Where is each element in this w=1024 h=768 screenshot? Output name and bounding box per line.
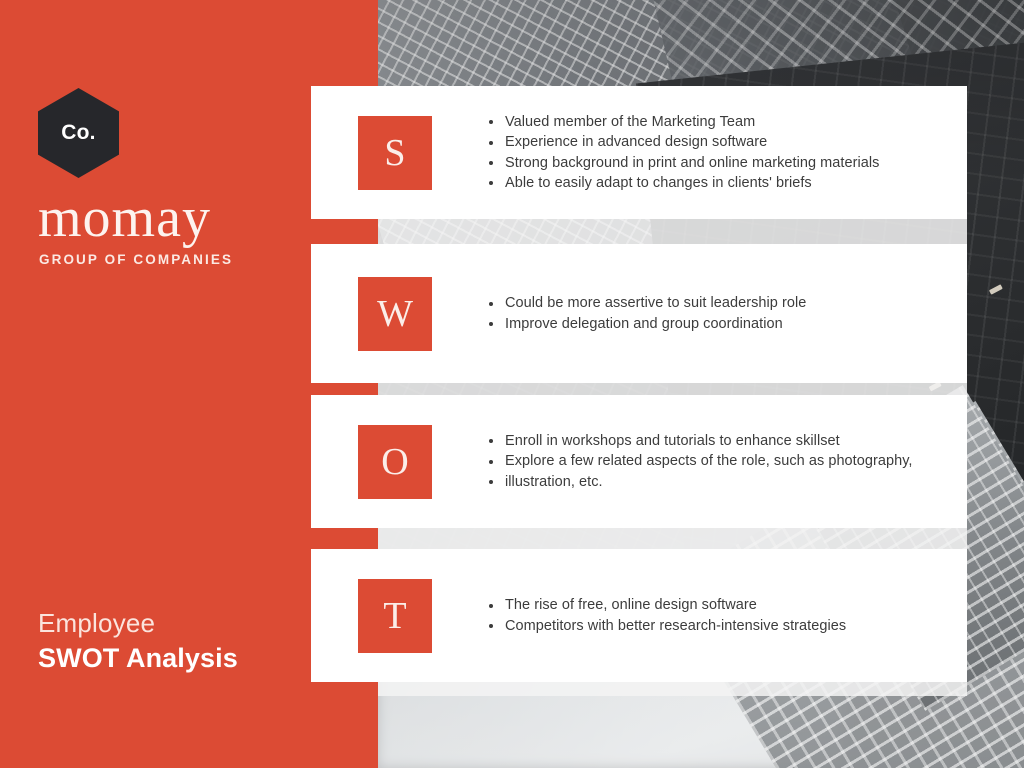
list-item: Experience in advanced design software (486, 132, 967, 152)
list-item: illustration, etc. (486, 472, 967, 492)
swot-letter-s: S (384, 134, 405, 172)
page-title: Employee SWOT Analysis (38, 606, 358, 676)
swot-bullets-strengths: Valued member of the Marketing Team Expe… (486, 112, 967, 194)
swot-card-weaknesses: W Could be more assertive to suit leader… (311, 244, 967, 383)
page-title-main: SWOT Analysis (38, 640, 358, 676)
red-accent-tab-3 (311, 528, 378, 549)
swot-letter-t: T (383, 597, 406, 635)
swot-letter-badge-w: W (358, 277, 432, 351)
hexagon-logo-icon: Co. (38, 88, 119, 178)
swot-letter-badge-s: S (358, 116, 432, 190)
card-gap-band-2 (378, 383, 967, 395)
swot-bullets-threats: The rise of free, online design software… (486, 595, 967, 636)
logo-hex-label: Co. (61, 121, 95, 145)
card-gap-band-3 (378, 528, 967, 549)
swot-letter-badge-t: T (358, 579, 432, 653)
list-item: Valued member of the Marketing Team (486, 112, 967, 132)
list-item: Explore a few related aspects of the rol… (486, 451, 967, 471)
list-item: Competitors with better research-intensi… (486, 616, 967, 636)
brand-tagline: GROUP OF COMPANIES (39, 252, 233, 267)
card-gap-band-1 (378, 219, 967, 244)
red-accent-tab-1 (311, 219, 378, 244)
red-accent-tab-4 (311, 682, 378, 696)
list-item: Able to easily adapt to changes in clien… (486, 173, 967, 193)
slide-canvas: Co. momay GROUP OF COMPANIES Employee SW… (0, 0, 1024, 768)
red-accent-tab-2 (311, 383, 378, 395)
swot-letter-o: O (381, 443, 408, 481)
list-item: Could be more assertive to suit leadersh… (486, 293, 967, 313)
list-item: Enroll in workshops and tutorials to enh… (486, 431, 967, 451)
brand-name: momay (38, 188, 211, 248)
card-gap-band-4 (378, 682, 967, 696)
page-title-eyebrow: Employee (38, 606, 358, 640)
swot-card-threats: T The rise of free, online design softwa… (311, 549, 967, 682)
swot-letter-w: W (377, 295, 413, 333)
swot-letter-badge-o: O (358, 425, 432, 499)
list-item: The rise of free, online design software (486, 595, 967, 615)
swot-bullets-opportunities: Enroll in workshops and tutorials to enh… (486, 431, 967, 492)
list-item: Strong background in print and online ma… (486, 153, 967, 173)
swot-card-strengths: S Valued member of the Marketing Team Ex… (311, 86, 967, 219)
list-item: Improve delegation and group coordinatio… (486, 314, 967, 334)
swot-card-opportunities: O Enroll in workshops and tutorials to e… (311, 395, 967, 528)
swot-bullets-weaknesses: Could be more assertive to suit leadersh… (486, 293, 967, 334)
